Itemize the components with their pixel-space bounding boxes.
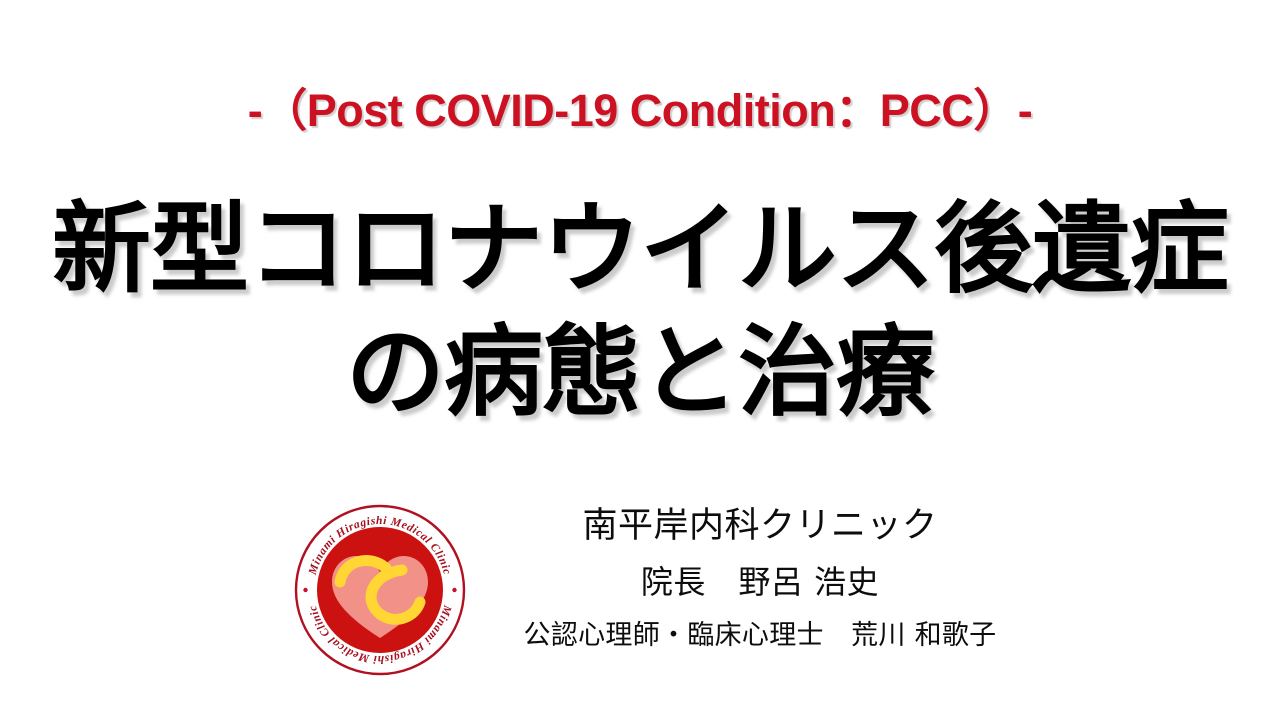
clinic-logo-svg: Minami Hiragishi Medical Clinic Minami H…	[294, 504, 466, 676]
page-title: 新型コロナウイルス後遺症 の病態と治療	[0, 188, 1280, 434]
credit-clinic-name: 南平岸内科クリニック	[480, 498, 1040, 554]
title-line-2: の病態と治療	[0, 312, 1280, 434]
clinic-logo-icon: Minami Hiragishi Medical Clinic Minami H…	[294, 504, 466, 676]
logo-dot-right	[452, 588, 456, 592]
subtitle-text: -（Post COVID-19 Condition：PCC）-	[0, 82, 1280, 140]
title-line-1: 新型コロナウイルス後遺症	[0, 188, 1280, 312]
credit-director-name: 院長 野呂 浩史	[480, 554, 1040, 610]
presentation-title-slide: -（Post COVID-19 Condition：PCC）- 新型コロナウイル…	[0, 0, 1280, 720]
credits-block: Minami Hiragishi Medical Clinic Minami H…	[0, 498, 1280, 688]
credit-psychologist-name: 公認心理師・臨床心理士 荒川 和歌子	[480, 610, 1040, 662]
logo-dot-left	[303, 588, 307, 592]
credit-text-lines: 南平岸内科クリニック 院長 野呂 浩史 公認心理師・臨床心理士 荒川 和歌子	[480, 498, 1040, 662]
